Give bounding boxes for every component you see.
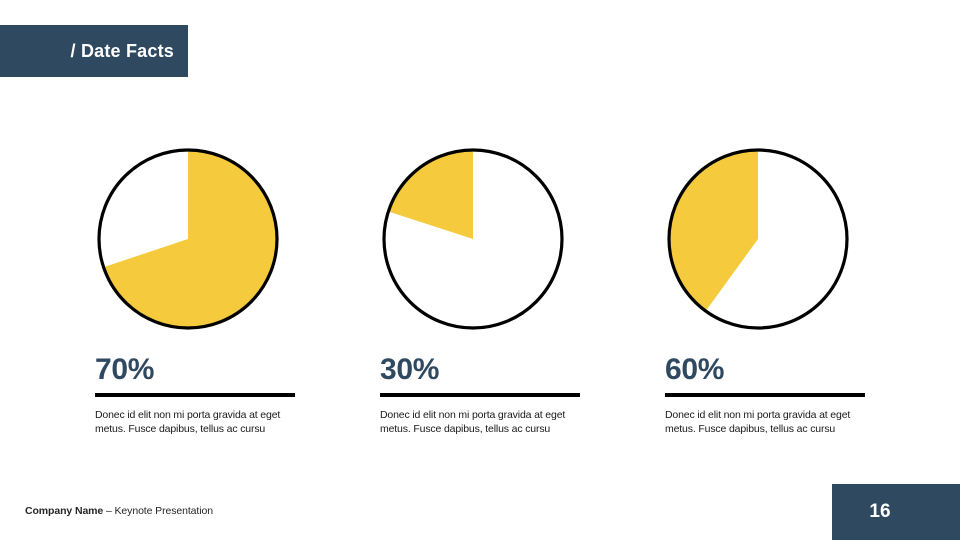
stats-columns: 70% Donec id elit non mi porta gravida a… [0,0,960,540]
pie-chart-svg [92,143,284,335]
divider-rule [95,393,295,397]
page-number-block: 16 [832,484,960,540]
pie-chart-svg [377,143,569,335]
pie-chart-70 [92,143,284,335]
footer-company: Company Name [25,505,103,517]
footer-separator: – [103,505,114,517]
pie-chart-svg [662,143,854,335]
pie-slice-filled [389,151,473,239]
stat-column: 30% Donec id elit non mi porta gravida a… [370,0,600,540]
page-number: 16 [869,501,890,523]
body-text: Donec id elit non mi porta gravida at eg… [380,408,583,436]
footer-text: Company Name – Keynote Presentation [25,505,213,517]
pie-slice-filled [104,151,275,327]
divider-rule [380,393,580,397]
stat-column: 70% Donec id elit non mi porta gravida a… [85,0,315,540]
slide: / Date Facts 70% Donec id elit non mi po… [0,0,960,540]
footer-subtitle: Keynote Presentation [115,505,213,517]
pie-chart-30 [377,143,569,335]
stat-column: 60% Donec id elit non mi porta gravida a… [655,0,885,540]
body-text: Donec id elit non mi porta gravida at eg… [95,408,298,436]
pie-chart-60 [662,143,854,335]
divider-rule [665,393,865,397]
percent-label: 70% [95,355,154,385]
body-text: Donec id elit non mi porta gravida at eg… [665,408,868,436]
percent-label: 30% [380,355,439,385]
percent-label: 60% [665,355,724,385]
